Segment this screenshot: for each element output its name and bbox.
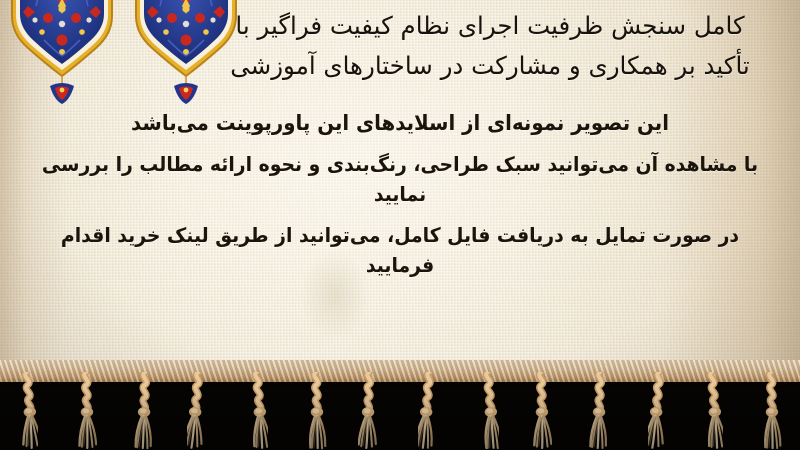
persian-illumination-ornament: [8, 0, 116, 104]
carpet-fringe: [0, 360, 800, 450]
body-line-2: با مشاهده آن می‌توانید سبک طراحی، رنگ‌بن…: [24, 149, 776, 209]
carpet-tassel: [75, 372, 97, 450]
body-line-1: این تصویر نمونه‌ای از اسلایدهای این پاور…: [24, 108, 776, 138]
carpet-tassel: [134, 372, 156, 450]
carpet-selvedge: [0, 360, 800, 382]
slide-canvas: کامل سنجش ظرفیت اجرای نظام کیفیت فراگیر …: [0, 0, 800, 450]
carpet-tassel: [477, 372, 499, 450]
carpet-tassel: [187, 372, 209, 450]
slide-title: کامل سنجش ظرفیت اجرای نظام کیفیت فراگیر …: [210, 6, 770, 86]
carpet-tassel: [701, 372, 723, 450]
carpet-tassel: [418, 372, 440, 450]
carpet-tassel: [530, 372, 552, 450]
carpet-tassel: [648, 372, 670, 450]
carpet-tassel: [589, 372, 611, 450]
slide-body: این تصویر نمونه‌ای از اسلایدهای این پاور…: [0, 108, 800, 288]
carpet-tassel: [358, 372, 380, 450]
body-line-3: در صورت تمایل به دریافت فایل کامل، می‌تو…: [24, 220, 776, 280]
carpet-tassel: [16, 372, 38, 450]
slide-title-line-1: کامل سنجش ظرفیت اجرای نظام کیفیت فراگیر …: [210, 6, 770, 46]
carpet-tassel: [305, 372, 327, 450]
slide-title-line-2: تأکید بر همکاری و مشارکت در ساختارهای آم…: [210, 46, 770, 86]
carpet-tassel: [760, 372, 782, 450]
carpet-tassel: [246, 372, 268, 450]
